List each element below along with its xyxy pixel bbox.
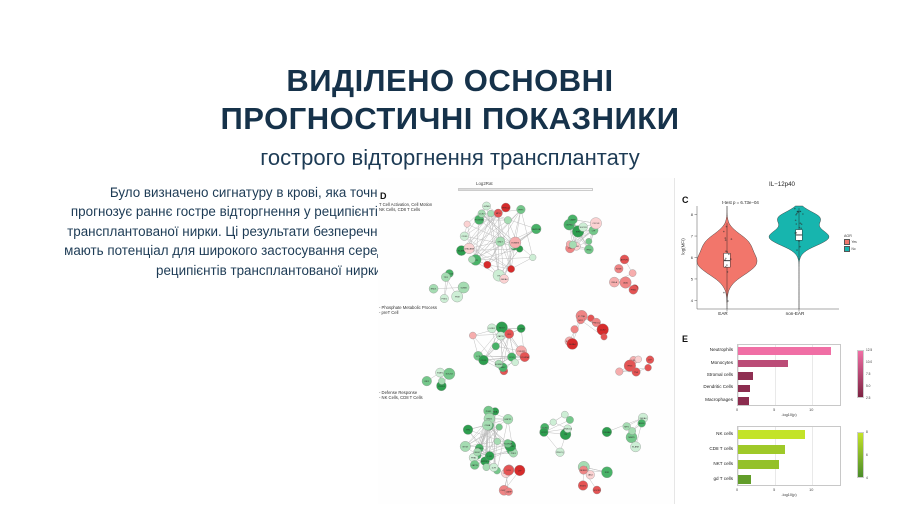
svg-text:DEFA4: DEFA4	[501, 278, 508, 281]
violin-legend-swatch-non-ear	[844, 246, 850, 252]
svg-text:CCR7: CCR7	[541, 432, 548, 434]
violin-legend-row-yes: Yes	[844, 239, 857, 245]
svg-text:SOCS3: SOCS3	[580, 227, 588, 229]
svg-text:NT5E: NT5E	[463, 446, 469, 448]
svg-text:5: 5	[691, 276, 694, 281]
bar-chart-colorbar-tick: 6	[866, 453, 868, 457]
page-subtitle: гострого відторгнення трансплантату	[0, 141, 900, 175]
svg-text:IL1B: IL1B	[506, 470, 511, 472]
bar-chart-category-label: Macrophages	[705, 397, 733, 402]
svg-text:7: 7	[691, 233, 694, 238]
svg-text:CD3D: CD3D	[462, 236, 468, 238]
svg-text:FCGR3A: FCGR3A	[475, 219, 484, 222]
svg-text:PRKCQ: PRKCQ	[556, 452, 564, 454]
svg-text:NKG7: NKG7	[499, 327, 506, 329]
svg-text:IFNG: IFNG	[627, 366, 632, 368]
svg-text:CD8A: CD8A	[518, 327, 524, 330]
svg-text:JAK2: JAK2	[588, 474, 594, 477]
bar-chart-colorbar-tick: 7.5	[866, 372, 870, 376]
svg-text:EOMES: EOMES	[495, 364, 503, 366]
bar-chart-bar	[738, 385, 750, 393]
svg-text:ATP5F1: ATP5F1	[621, 258, 629, 261]
bar-chart-colorbar-tick: 10.0	[866, 360, 872, 364]
bar-chart-colorbar	[857, 350, 864, 398]
bar-chart-category-label: CD8 T cells	[709, 446, 733, 451]
svg-text:PKM: PKM	[455, 296, 460, 298]
svg-text:S100A8: S100A8	[603, 431, 611, 434]
svg-text:6: 6	[691, 255, 694, 260]
svg-text:LCK: LCK	[488, 456, 493, 458]
violin-x-tick-ear: EAR	[703, 311, 743, 316]
bar-chart-category-label: gd T cells	[714, 476, 734, 481]
svg-text:CCR7: CCR7	[600, 330, 607, 332]
svg-text:STAT1: STAT1	[580, 484, 587, 487]
svg-text:CXCL8: CXCL8	[593, 223, 601, 225]
bar-chart-colorbar-tick: 8	[866, 430, 868, 434]
bar-chart-bar	[738, 372, 753, 380]
svg-text:EOMES: EOMES	[512, 242, 520, 244]
svg-text:MMP9: MMP9	[628, 437, 635, 439]
panel-d-network: D Log2Rat T Cell Activation, Cell Motion…	[378, 178, 674, 504]
svg-text:DEFA4: DEFA4	[569, 343, 576, 346]
slide-title-block: ВИДІЛЕНО ОСНОВНІ ПРОГНОСТИЧНІ ПОКАЗНИКИ …	[0, 62, 900, 175]
svg-text:ZAP70: ZAP70	[472, 464, 479, 467]
svg-text:SOCS3: SOCS3	[593, 490, 601, 492]
svg-text:ARG1: ARG1	[639, 422, 646, 425]
svg-text:CXCL8: CXCL8	[438, 386, 446, 388]
bar-chart-x-tick: 0	[730, 408, 744, 412]
svg-text:PGK1: PGK1	[442, 298, 448, 300]
violin-legend-row-no: No	[844, 246, 857, 252]
svg-text:CEACAM8: CEACAM8	[464, 247, 475, 250]
svg-text:CCL5: CCL5	[509, 357, 515, 359]
body-paragraph: Було визначено сигнатуру в крові, яка то…	[50, 183, 385, 280]
bar-chart-x-tick: 10	[804, 408, 818, 412]
svg-text:KLRD1: KLRD1	[489, 328, 497, 330]
svg-text:CCR7: CCR7	[479, 214, 486, 216]
bar-chart-category-label: NK cells	[716, 431, 733, 436]
violin-x-tick-non-ear: non-EAR	[775, 311, 815, 316]
bar-chart-plot-area	[737, 426, 841, 486]
panel-e-barcharts: E 0510NeutrophilsMonocytesStromal cellsD…	[674, 330, 888, 504]
svg-text:ENPP1: ENPP1	[505, 419, 513, 421]
bar-chart-colorbar	[857, 432, 864, 478]
svg-text:CAMP: CAMP	[570, 218, 577, 221]
svg-text:NFKB1: NFKB1	[580, 470, 588, 472]
svg-text:FCGR3A: FCGR3A	[520, 356, 529, 359]
svg-text:GZMB: GZMB	[461, 287, 468, 289]
bar-chart-bar	[738, 445, 785, 454]
bar-chart-x-axis-title: -log10(p)	[737, 493, 841, 497]
svg-text:MPO: MPO	[624, 426, 629, 428]
svg-text:***: ***	[797, 210, 802, 215]
violin-legend-swatch-ear	[844, 239, 850, 245]
violin-plot-svg: 45678***	[675, 178, 889, 330]
svg-text:4: 4	[691, 298, 694, 303]
bar-chart-category-label: Stromal cells	[707, 372, 733, 377]
bar-chart-bar	[738, 460, 779, 469]
figure-panel-group: D Log2Rat T Cell Activation, Cell Motion…	[378, 178, 888, 504]
svg-text:ELANE: ELANE	[632, 446, 639, 449]
svg-text:MPO: MPO	[496, 213, 501, 215]
bar-chart-gridline	[812, 427, 813, 485]
svg-text:SOCS3: SOCS3	[446, 374, 454, 376]
bar-chart-category-labels	[675, 342, 733, 422]
svg-text:MPO: MPO	[578, 320, 583, 322]
bar-chart-bar	[738, 360, 788, 368]
bar-chart-myeloid: 0510NeutrophilsMonocytesStromal cellsDen…	[675, 342, 889, 422]
svg-text:ZAP70: ZAP70	[498, 335, 505, 338]
panel-c-violin: C IL−12p40 t-test p = 6.73e−04 log(MFI) …	[674, 178, 888, 330]
bar-chart-plot-area	[737, 344, 841, 406]
svg-text:STAT1: STAT1	[437, 372, 444, 375]
svg-text:RELA: RELA	[612, 281, 618, 284]
bar-chart-x-tick: 10	[804, 488, 818, 492]
violin-legend-title: AGR	[844, 234, 857, 238]
svg-text:NKG7: NKG7	[475, 452, 482, 454]
page-title-line-1: ВИДІЛЕНО ОСНОВНІ	[0, 62, 900, 100]
bar-chart-category-label: Dendritic Cells	[703, 384, 733, 389]
violin-legend-label-no: No	[852, 247, 856, 251]
svg-text:PPA1: PPA1	[471, 457, 477, 460]
svg-text:CAMP: CAMP	[506, 491, 513, 494]
bar-chart-colorbar-tick: 4	[866, 476, 868, 480]
svg-text:PRF1: PRF1	[518, 209, 524, 211]
network-graph-svg: GZMBPRF1CCL5IL7RGNLYFCGR3AITKCD3DTBX21EO…	[378, 178, 674, 504]
svg-text:PPA1: PPA1	[631, 289, 637, 292]
svg-text:NT5E: NT5E	[616, 269, 622, 271]
svg-text:ENO1: ENO1	[431, 289, 438, 291]
bar-chart-category-label: NKT cells	[713, 461, 733, 466]
svg-text:PGK1: PGK1	[486, 411, 492, 413]
bar-chart-x-axis-title: -log10(p)	[737, 413, 841, 417]
svg-text:GZMB: GZMB	[483, 206, 490, 208]
svg-text:PRF1: PRF1	[511, 453, 517, 455]
bar-chart-colorbar-tick: 2.5	[866, 396, 870, 400]
bar-chart-colorbar-tick: 12.5	[866, 348, 872, 352]
violin-legend: AGR Yes No	[844, 234, 857, 253]
bar-chart-category-label: Neutrophils	[710, 347, 733, 352]
svg-text:OLFM4: OLFM4	[566, 225, 574, 227]
bar-chart-x-tick: 5	[767, 408, 781, 412]
svg-text:SH2D1A: SH2D1A	[564, 428, 573, 431]
svg-text:IFNG: IFNG	[586, 249, 591, 251]
svg-text:CD8A: CD8A	[485, 424, 491, 427]
svg-text:GNLY: GNLY	[500, 367, 506, 369]
bar-chart-bar	[738, 430, 805, 439]
bar-chart-x-tick: 0	[730, 488, 744, 492]
violin-legend-label-yes: Yes	[852, 240, 857, 244]
page-title-line-2: ПРОГНОСТИЧНІ ПОКАЗНИКИ	[0, 100, 900, 138]
bar-chart-x-tick: 5	[767, 488, 781, 492]
svg-text:IL7R: IL7R	[492, 467, 497, 469]
svg-text:PRKCQ: PRKCQ	[502, 207, 510, 209]
bar-chart-lymphoid: 0510NK cellsCD8 T cellsNKT cellsgd T cel…	[675, 424, 889, 502]
svg-text:CD3D: CD3D	[481, 360, 487, 362]
bar-chart-bar	[738, 397, 749, 405]
svg-text:8: 8	[691, 212, 694, 217]
bar-chart-bar	[738, 475, 751, 484]
svg-text:GNLY: GNLY	[497, 241, 503, 243]
svg-text:SH2D1A: SH2D1A	[532, 228, 541, 231]
svg-text:PRKCQ: PRKCQ	[593, 322, 601, 324]
bar-chart-colorbar-tick: 5.0	[866, 384, 870, 388]
svg-text:ATP5F1: ATP5F1	[481, 460, 489, 463]
svg-text:FCGR3A: FCGR3A	[504, 442, 513, 445]
bar-chart-bar	[738, 347, 831, 355]
svg-text:ADA: ADA	[623, 281, 628, 284]
bar-chart-category-label: Monocytes	[711, 360, 733, 365]
svg-text:ADA: ADA	[493, 410, 498, 413]
